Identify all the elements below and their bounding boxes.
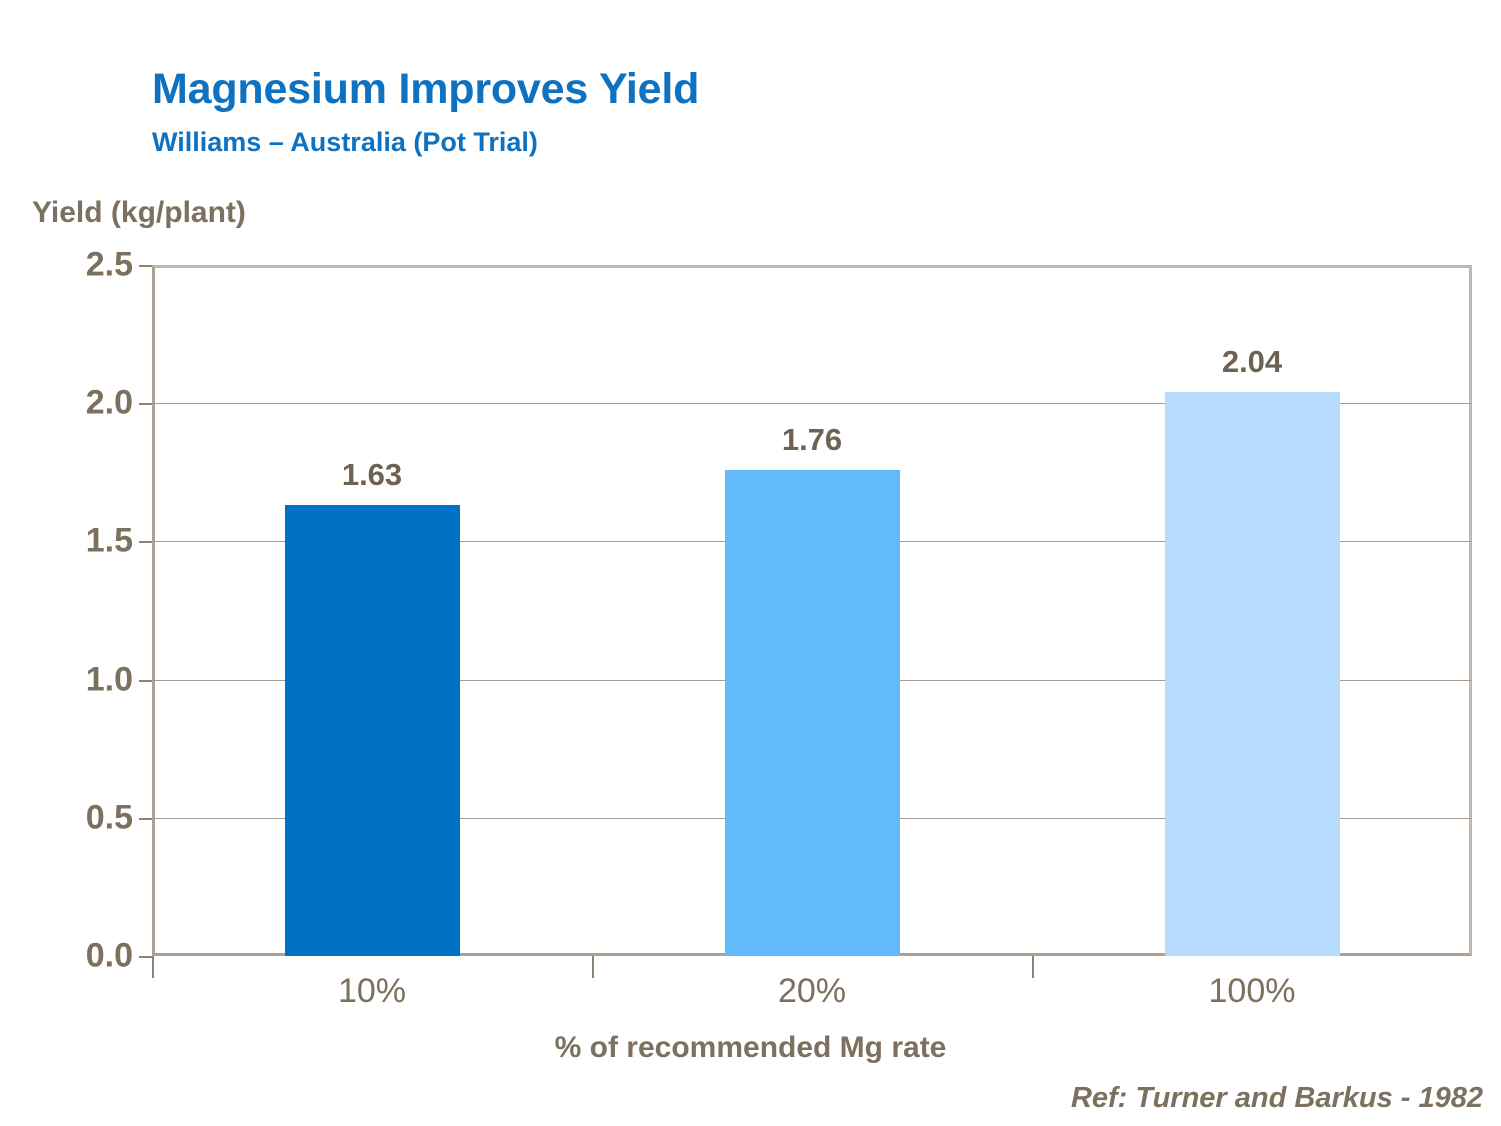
y-tick-mark	[139, 403, 152, 405]
y-tick-label: 0.5	[13, 798, 133, 837]
x-tick-mark	[1032, 956, 1034, 978]
bar-20pct	[725, 470, 900, 956]
y-axis-title: Yield (kg/plant)	[32, 196, 246, 230]
reference-citation: Ref: Turner and Barkus - 1982	[1071, 1082, 1483, 1115]
y-tick-mark	[139, 541, 152, 543]
chart-subtitle: Williams – Australia (Pot Trial)	[152, 127, 538, 158]
x-tick-label: 10%	[338, 972, 406, 1011]
y-tick-label: 1.5	[13, 522, 133, 561]
x-tick-label: 100%	[1209, 972, 1296, 1011]
bar-value-label: 1.63	[342, 457, 402, 493]
y-tick-label: 1.0	[13, 660, 133, 699]
y-tick-mark	[139, 680, 152, 682]
y-tick-mark	[139, 956, 152, 958]
x-tick-mark	[592, 956, 594, 978]
bar-value-label: 1.76	[782, 422, 842, 458]
x-tick-label: 20%	[778, 972, 846, 1011]
x-axis-title: % of recommended Mg rate	[0, 1031, 1501, 1065]
bar-value-label: 2.04	[1222, 344, 1282, 380]
y-tick-label: 2.5	[13, 246, 133, 285]
y-tick-mark	[139, 818, 152, 820]
slide-canvas: Magnesium Improves Yield Williams – Aust…	[0, 0, 1501, 1126]
chart-title: Magnesium Improves Yield	[152, 65, 699, 114]
y-tick-label: 0.0	[13, 937, 133, 976]
x-tick-mark	[152, 956, 154, 978]
y-tick-mark	[139, 265, 152, 267]
bar-100pct	[1165, 392, 1340, 956]
y-tick-label: 2.0	[13, 384, 133, 423]
bar-10pct	[285, 505, 460, 956]
